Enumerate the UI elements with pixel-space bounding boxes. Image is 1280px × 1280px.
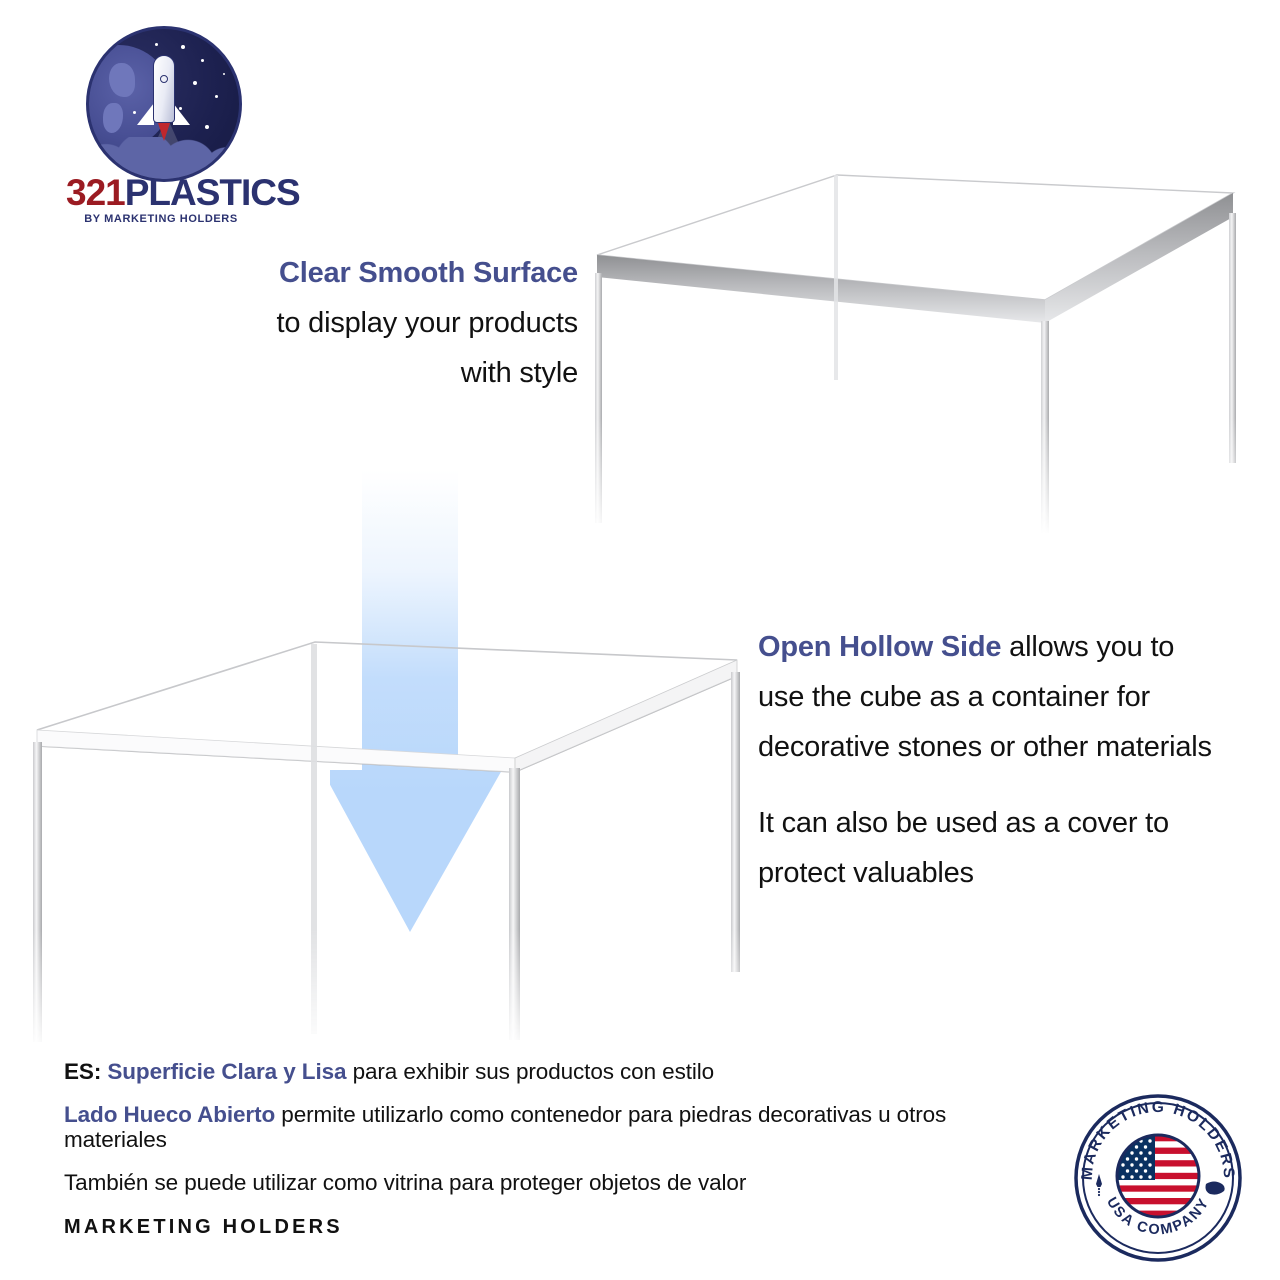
spanish-line-3: También se puede utilizar como vitrina p… [64, 1169, 964, 1196]
callout-top-line2: to display your products [277, 307, 578, 339]
callout-right-paragraph2: It can also be used as a cover to protec… [758, 807, 1169, 889]
spanish-line-2: Lado Hueco Abierto permite utilizarlo co… [64, 1102, 964, 1152]
spanish-translation-block: ES: Superficie Clara y Lisa para exhibir… [64, 1058, 964, 1213]
rocket-earth-badge-icon [86, 26, 242, 182]
spanish-line-1-rest: para exhibir sus productos con estilo [346, 1059, 714, 1084]
marketing-holders-usa-seal: MARKETING HOLDERS USA COMPANY [1072, 1092, 1244, 1264]
logo-main-word: PLASTICS [125, 172, 300, 213]
rocket-window-icon [160, 75, 168, 83]
spanish-line-1-accent: Superficie Clara y Lisa [107, 1059, 346, 1084]
rocket-fin-left-icon [137, 103, 154, 125]
paragraph-spacer [758, 772, 1218, 798]
callout-clear-smooth-surface: Clear Smooth Surface to display your pro… [60, 248, 578, 398]
callout-open-hollow-side: Open Hollow Side allows you to use the c… [758, 622, 1218, 898]
logo-number: 321 [66, 172, 125, 213]
brand-logo: 321PLASTICS BY MARKETING HOLDERS [66, 26, 256, 206]
spanish-language-prefix: ES: [64, 1059, 101, 1084]
logo-wordmark: 321PLASTICS BY MARKETING HOLDERS [66, 174, 256, 225]
clear-acrylic-cube-closed-top [575, 145, 1255, 535]
spanish-line-1: ES: Superficie Clara y Lisa para exhibir… [64, 1058, 964, 1085]
clear-acrylic-cube-open-hollow [15, 620, 755, 1050]
logo-tagline: BY MARKETING HOLDERS [66, 214, 256, 225]
rocket-flame-icon [158, 123, 170, 141]
rocket-fin-right-icon [173, 103, 190, 125]
rocket-body-icon [153, 55, 175, 123]
callout-top-accent: Clear Smooth Surface [279, 257, 578, 289]
callout-top-line3: with style [461, 357, 578, 389]
callout-right-accent: Open Hollow Side [758, 631, 1001, 663]
spanish-line-3-text: También se puede utilizar como vitrina p… [64, 1170, 746, 1195]
spanish-line-2-accent: Lado Hueco Abierto [64, 1102, 275, 1127]
footer-brand-text: MARKETING HOLDERS [64, 1216, 343, 1239]
